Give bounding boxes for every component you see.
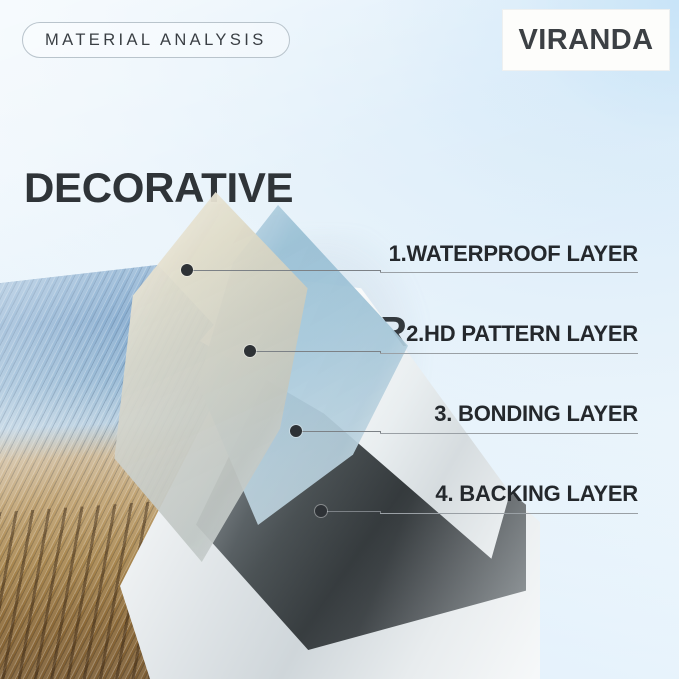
material-analysis-badge: MATERIAL ANALYSIS xyxy=(22,22,290,58)
callout-label-3: 3. BONDING LAYER xyxy=(434,401,638,427)
callout-dot-1 xyxy=(181,264,193,276)
callout-connector-1 xyxy=(380,270,381,272)
callout-connector-3 xyxy=(380,431,381,433)
callout-rule-2 xyxy=(380,353,638,354)
callout-leader-line-4 xyxy=(327,511,380,512)
infographic-canvas: MATERIAL ANALYSIS DECORATIVE 3D DOOR STI… xyxy=(0,0,679,679)
callout-rule-1 xyxy=(380,272,638,273)
callout-connector-2 xyxy=(380,351,381,353)
callout-leader-line-3 xyxy=(302,431,380,432)
callout-label-2: 2.HD PATTERN LAYER xyxy=(406,321,638,347)
callout-dot-2 xyxy=(244,345,256,357)
callout-rule-4 xyxy=(380,513,638,514)
brand-logo: VIRANDA xyxy=(503,10,669,70)
callout-dot-3 xyxy=(290,425,302,437)
callout-leader-line-2 xyxy=(256,351,380,352)
callout-leader-line-1 xyxy=(193,270,380,271)
badge-label: MATERIAL ANALYSIS xyxy=(45,31,267,50)
callout-rule-3 xyxy=(380,433,638,434)
callout-connector-4 xyxy=(380,511,381,513)
callout-label-1: 1.WATERPROOF LAYER xyxy=(389,241,638,267)
callout-label-4: 4. BACKING LAYER xyxy=(435,481,638,507)
brand-logo-text: VIRANDA xyxy=(519,24,654,57)
callout-dot-4 xyxy=(315,505,327,517)
